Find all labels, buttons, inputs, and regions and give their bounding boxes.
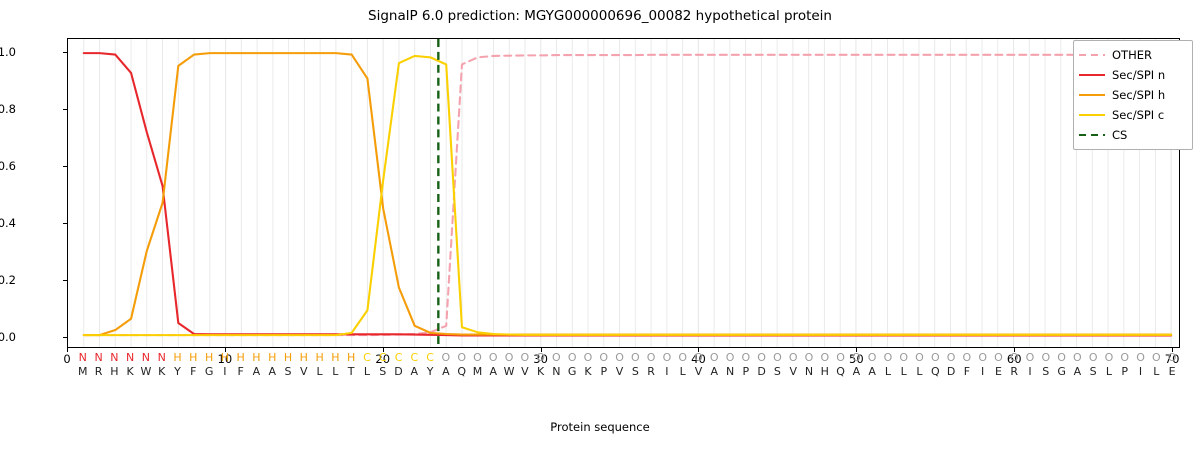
region-annotation-letter: O <box>1010 351 1019 364</box>
sequence-residue: S <box>1042 365 1049 378</box>
sequence-residue: Q <box>931 365 940 378</box>
y-tick-label: 0.0 <box>0 330 16 344</box>
region-annotation-letter: O <box>473 351 482 364</box>
sequence-residue: V <box>300 365 308 378</box>
sequence-residue: A <box>268 365 276 378</box>
region-annotation-letter: O <box>457 351 466 364</box>
y-tick-label: 0.6 <box>0 159 16 173</box>
region-annotation-letter: O <box>994 351 1003 364</box>
sequence-residue: S <box>774 365 781 378</box>
region-annotation-letter: O <box>678 351 687 364</box>
sequence-residue: A <box>411 365 419 378</box>
sequence-residue: V <box>616 365 624 378</box>
sequence-residue: S <box>632 365 639 378</box>
y-tick-mark <box>63 109 67 110</box>
sequence-residue: E <box>1169 365 1176 378</box>
region-annotation-letter: O <box>931 351 940 364</box>
sequence-residue: S <box>1090 365 1097 378</box>
sequence-residue: M <box>78 365 88 378</box>
region-annotation-letter: N <box>126 351 134 364</box>
region-annotation-letter: O <box>773 351 782 364</box>
sequence-residue: A <box>489 365 497 378</box>
region-annotation-letter: O <box>520 351 529 364</box>
sequence-residue: R <box>1010 365 1018 378</box>
sequence-residue: A <box>253 365 261 378</box>
sequence-residue: G <box>205 365 214 378</box>
sequence-residue: S <box>379 365 386 378</box>
sequence-residue: L <box>885 365 891 378</box>
region-annotation-letter: O <box>899 351 908 364</box>
sequence-residue: Y <box>427 365 434 378</box>
sequence-residue: K <box>127 365 134 378</box>
region-annotation-letter: C <box>410 351 418 364</box>
sequence-residue: D <box>947 365 955 378</box>
y-tick-mark <box>63 52 67 53</box>
region-annotation-letter: N <box>110 351 118 364</box>
region-annotation-letter: O <box>1152 351 1161 364</box>
sequence-residue: W <box>504 365 515 378</box>
sequence-residue: D <box>394 365 402 378</box>
y-tick-mark <box>63 337 67 338</box>
region-annotation-letter: N <box>94 351 102 364</box>
region-annotation-letter: N <box>158 351 166 364</box>
region-annotation-letter: O <box>820 351 829 364</box>
legend-item-sec-spi-n[interactable]: Sec/SPI n <box>1079 65 1187 85</box>
region-annotation-letter: O <box>584 351 593 364</box>
sequence-residue: A <box>711 365 719 378</box>
sequence-residue: R <box>647 365 655 378</box>
sequence-residue: I <box>981 365 984 378</box>
sequence-residue: L <box>901 365 907 378</box>
y-tick-mark <box>63 223 67 224</box>
sequence-residue: I <box>1139 365 1142 378</box>
y-tick-label: 0.2 <box>0 273 16 287</box>
region-annotation-letter: O <box>631 351 640 364</box>
sequence-residue: D <box>757 365 765 378</box>
region-annotation-letter: O <box>442 351 451 364</box>
region-annotation-letter: H <box>300 351 308 364</box>
legend-swatch <box>1079 129 1105 141</box>
sequence-residue: I <box>1028 365 1031 378</box>
sequence-residue: K <box>158 365 165 378</box>
region-annotation-letter: O <box>536 351 545 364</box>
region-annotation-letter: O <box>978 351 987 364</box>
sequence-residue: L <box>364 365 370 378</box>
region-annotation-letter: O <box>647 351 656 364</box>
region-annotation-letter: N <box>79 351 87 364</box>
sequence-residue: L <box>1106 365 1112 378</box>
legend-swatch <box>1079 89 1105 101</box>
sequence-residue: E <box>995 365 1002 378</box>
region-annotation-letter: O <box>789 351 798 364</box>
region-annotation-letter: C <box>379 351 387 364</box>
sequence-residue: G <box>1057 365 1066 378</box>
region-annotation-letter: H <box>347 351 355 364</box>
sequence-residue: L <box>317 365 323 378</box>
region-annotation-letter: O <box>884 351 893 364</box>
region-annotation-letter: H <box>189 351 197 364</box>
region-annotation-letter: O <box>599 351 608 364</box>
sequence-residue: V <box>789 365 797 378</box>
region-annotation-letter: H <box>284 351 292 364</box>
region-annotation-letter: H <box>237 351 245 364</box>
region-annotation-letter: O <box>868 351 877 364</box>
legend-label: Sec/SPI c <box>1112 108 1164 122</box>
region-annotation-letter: O <box>1026 351 1035 364</box>
region-annotation-letter: H <box>268 351 276 364</box>
region-annotation-letter: O <box>615 351 624 364</box>
series-sec-spi-n <box>84 53 1171 335</box>
legend-swatch <box>1079 109 1105 121</box>
region-annotation-letter: O <box>915 351 924 364</box>
legend-item-sec-spi-h[interactable]: Sec/SPI h <box>1079 85 1187 105</box>
sequence-residue: W <box>140 365 151 378</box>
y-tick-label: 0.4 <box>0 216 16 230</box>
region-annotation-letter: H <box>252 351 260 364</box>
region-annotation-letter: O <box>694 351 703 364</box>
legend-label: OTHER <box>1112 48 1152 62</box>
sequence-residue: Q <box>457 365 466 378</box>
region-annotation-letter: O <box>489 351 498 364</box>
sequence-residue: K <box>537 365 544 378</box>
sequence-residue: N <box>726 365 734 378</box>
sequence-residue: A <box>1074 365 1082 378</box>
sequence-residue: F <box>190 365 196 378</box>
sequence-residue: A <box>442 365 450 378</box>
sequence-residue: I <box>665 365 668 378</box>
sequence-residue: L <box>916 365 922 378</box>
region-annotation-letter: O <box>742 351 751 364</box>
sequence-residue: F <box>237 365 243 378</box>
sequence-residue: P <box>1121 365 1128 378</box>
sequence-residue: T <box>348 365 355 378</box>
series-other <box>84 55 1171 335</box>
sequence-residue: N <box>552 365 560 378</box>
region-annotation-letter: O <box>710 351 719 364</box>
plot-area <box>67 38 1180 348</box>
y-tick-mark <box>63 280 67 281</box>
x-tick-label: 0 <box>63 352 70 366</box>
legend-item-other[interactable]: OTHER <box>1079 45 1187 65</box>
region-annotation-letter: O <box>1168 351 1177 364</box>
sequence-residue: A <box>853 365 861 378</box>
sequence-residue: L <box>332 365 338 378</box>
sequence-residue: G <box>568 365 577 378</box>
legend-label: Sec/SPI h <box>1112 88 1165 102</box>
region-annotation-letter: O <box>805 351 814 364</box>
region-annotation-letter: O <box>947 351 956 364</box>
region-annotation-letter: O <box>552 351 561 364</box>
region-annotation-letter: H <box>221 351 229 364</box>
sequence-residue: A <box>868 365 876 378</box>
y-tick-label: 0.8 <box>0 102 16 116</box>
legend-label: CS <box>1112 128 1127 142</box>
region-annotation-letter: O <box>1073 351 1082 364</box>
legend-item-sec-spi-c[interactable]: Sec/SPI c <box>1079 105 1187 125</box>
sequence-residue: K <box>584 365 591 378</box>
legend-item-cs[interactable]: CS <box>1079 125 1187 145</box>
region-annotation-letter: O <box>836 351 845 364</box>
x-axis-label: Protein sequence <box>0 420 1200 434</box>
sequence-residue: V <box>695 365 703 378</box>
sequence-residue: R <box>95 365 103 378</box>
y-tick-mark <box>63 166 67 167</box>
region-annotation-letter: C <box>363 351 371 364</box>
series-sec-spi-h <box>84 53 1171 335</box>
region-annotation-letter: O <box>1057 351 1066 364</box>
legend: OTHERSec/SPI nSec/SPI hSec/SPI cCS <box>1073 40 1193 150</box>
region-annotation-letter: C <box>426 351 434 364</box>
sequence-residue: H <box>821 365 829 378</box>
y-tick-label: 1.0 <box>0 45 16 59</box>
sequence-residue: L <box>680 365 686 378</box>
region-annotation-letter: O <box>505 351 514 364</box>
series-sec-spi-c <box>84 56 1171 335</box>
region-annotation-letter: O <box>1041 351 1050 364</box>
sequence-residue: M <box>473 365 483 378</box>
region-annotation-letter: O <box>1136 351 1145 364</box>
region-annotation-letter: O <box>663 351 672 364</box>
sequence-residue: P <box>600 365 607 378</box>
region-annotation-letter: H <box>315 351 323 364</box>
region-annotation-letter: O <box>1089 351 1098 364</box>
legend-swatch <box>1079 69 1105 81</box>
chart-title: SignalP 6.0 prediction: MGYG000000696_00… <box>0 8 1200 24</box>
legend-swatch <box>1079 49 1105 61</box>
region-annotation-letter: H <box>331 351 339 364</box>
legend-label: Sec/SPI n <box>1112 68 1165 82</box>
sequence-residue: L <box>1153 365 1159 378</box>
sequence-residue: I <box>223 365 226 378</box>
region-annotation-letter: O <box>726 351 735 364</box>
sequence-residue: S <box>285 365 292 378</box>
sequence-residue: Y <box>174 365 181 378</box>
region-annotation-letter: H <box>173 351 181 364</box>
region-annotation-letter: O <box>1120 351 1129 364</box>
region-annotation-letter: O <box>852 351 861 364</box>
x-tick-mark <box>67 348 68 352</box>
sequence-residue: Q <box>836 365 845 378</box>
sequence-residue: V <box>521 365 529 378</box>
sequence-residue: P <box>743 365 750 378</box>
signalp-figure: SignalP 6.0 prediction: MGYG000000696_00… <box>0 0 1200 450</box>
region-annotation-letter: O <box>1105 351 1114 364</box>
sequence-residue: F <box>964 365 970 378</box>
region-annotation-letter: O <box>568 351 577 364</box>
sequence-residue: H <box>110 365 118 378</box>
region-annotation-letter: N <box>142 351 150 364</box>
region-annotation-letter: O <box>963 351 972 364</box>
sequence-residue: N <box>805 365 813 378</box>
region-annotation-letter: C <box>395 351 403 364</box>
region-annotation-letter: O <box>757 351 766 364</box>
region-annotation-letter: H <box>205 351 213 364</box>
data-layer <box>68 39 1179 347</box>
